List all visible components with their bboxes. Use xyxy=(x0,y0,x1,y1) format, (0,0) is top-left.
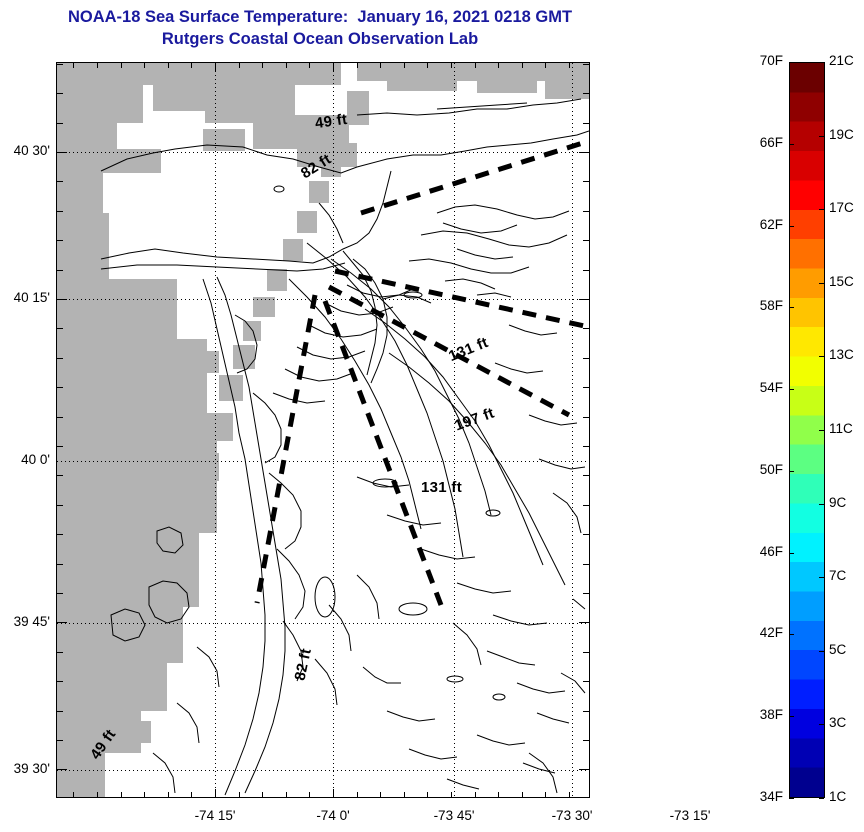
axis-label-longitude: -73 30' xyxy=(522,808,622,823)
axis-tick-minor-y xyxy=(583,681,590,682)
axis-tick-minor-y xyxy=(56,417,63,418)
colorbar-tick-f xyxy=(789,716,794,717)
gridline-horizontal xyxy=(57,299,589,300)
colorbar-label-fahrenheit: 66F xyxy=(741,135,783,150)
colorbar-label-fahrenheit: 58F xyxy=(741,298,783,313)
colorbar-label-fahrenheit: 50F xyxy=(741,462,783,477)
axis-label-latitude: 39 45' xyxy=(0,614,50,629)
axis-tick-minor-y xyxy=(583,270,590,271)
axis-tick-minor-y xyxy=(583,240,590,241)
gridline-vertical xyxy=(333,63,334,797)
colorbar-tick-f xyxy=(789,389,794,390)
colorbar-tick-c xyxy=(819,798,824,799)
colorbar-tick-c xyxy=(819,62,824,63)
axis-label-longitude: -73 45' xyxy=(404,808,504,823)
axis-tick-minor-y xyxy=(56,652,63,653)
axis-tick-minor-y xyxy=(56,93,63,94)
axis-tick-major-y xyxy=(579,622,590,623)
axis-tick-minor-y xyxy=(56,534,63,535)
axis-tick-major-y xyxy=(579,152,590,153)
axis-tick-major-y xyxy=(579,769,590,770)
axis-tick-minor-x xyxy=(427,792,428,798)
axis-tick-minor-x xyxy=(522,62,523,68)
colorbar-label-fahrenheit: 34F xyxy=(741,789,783,804)
colorbar-label-fahrenheit: 46F xyxy=(741,544,783,559)
axis-tick-minor-x xyxy=(121,62,122,68)
axis-tick-minor-x xyxy=(475,792,476,798)
axis-tick-minor-x xyxy=(309,62,310,68)
axis-tick-major-y xyxy=(56,769,67,770)
axis-tick-minor-y xyxy=(583,740,590,741)
colorbar-label-celsius: 19C xyxy=(829,127,854,142)
axis-tick-minor-x xyxy=(262,792,263,798)
axis-tick-minor-x xyxy=(357,792,358,798)
axis-tick-minor-x xyxy=(168,62,169,68)
colorbar-label-fahrenheit: 70F xyxy=(741,53,783,68)
axis-tick-minor-y xyxy=(583,505,590,506)
axis-tick-minor-x xyxy=(144,792,145,798)
axis-tick-major-x xyxy=(215,789,216,798)
colorbar-tick-f xyxy=(789,634,794,635)
axis-tick-major-y xyxy=(56,299,67,300)
colorbar-label-celsius: 3C xyxy=(829,715,846,730)
axis-tick-minor-y xyxy=(56,123,63,124)
axis-tick-minor-x xyxy=(286,792,287,798)
colorbar-label-celsius: 5C xyxy=(829,642,846,657)
axis-label-latitude: 40 15' xyxy=(0,290,50,305)
axis-tick-minor-x xyxy=(380,62,381,68)
depth-label-131ft-lower: 131 ft xyxy=(421,479,462,496)
axis-label-longitude: -74 0' xyxy=(283,808,383,823)
axis-tick-minor-x xyxy=(168,792,169,798)
colorbar-tick-c xyxy=(819,504,824,505)
colorbar-tick-c xyxy=(819,209,824,210)
colorbar-label-celsius: 17C xyxy=(829,200,854,215)
axis-tick-minor-y xyxy=(56,181,63,182)
axis-tick-minor-x xyxy=(545,792,546,798)
axis-label-longitude: -74 15' xyxy=(165,808,265,823)
axis-tick-minor-x xyxy=(380,792,381,798)
colorbar-tick-c xyxy=(819,283,824,284)
axis-tick-major-y xyxy=(56,622,67,623)
axis-tick-minor-y xyxy=(583,564,590,565)
page-subtitle: Rutgers Coastal Ocean Observation Lab xyxy=(0,28,640,50)
colorbar-label-celsius: 9C xyxy=(829,495,846,510)
axis-tick-minor-y xyxy=(583,93,590,94)
colorbar-label-fahrenheit: 54F xyxy=(741,380,783,395)
axis-tick-minor-y xyxy=(56,211,63,212)
axis-label-latitude: 39 30' xyxy=(0,761,50,776)
colorbar-tick-f xyxy=(789,471,794,472)
axis-tick-minor-y xyxy=(583,593,590,594)
colorbar-label-celsius: 13C xyxy=(829,347,854,362)
gridline-vertical xyxy=(454,63,455,797)
colorbar-tick-f xyxy=(789,62,794,63)
coastline-and-contours xyxy=(57,63,589,797)
gridline-horizontal xyxy=(57,623,589,624)
axis-tick-minor-x xyxy=(451,792,452,798)
colorbar-tick-c xyxy=(819,651,824,652)
axis-tick-minor-x xyxy=(498,792,499,798)
colorbar-tick-c xyxy=(819,577,824,578)
colorbar-label-celsius: 7C xyxy=(829,568,846,583)
colorbar-tick-f xyxy=(789,226,794,227)
axis-tick-minor-x xyxy=(73,62,74,68)
axis-tick-minor-x xyxy=(357,62,358,68)
colorbar-label-fahrenheit: 38F xyxy=(741,707,783,722)
colorbar-tick-f xyxy=(789,307,794,308)
axis-tick-minor-x xyxy=(498,62,499,68)
axis-tick-minor-x xyxy=(569,62,570,68)
axis-tick-minor-x xyxy=(191,792,192,798)
axis-tick-minor-x xyxy=(404,792,405,798)
axis-tick-minor-x xyxy=(121,792,122,798)
gridline-vertical xyxy=(572,63,573,797)
axis-tick-minor-x xyxy=(404,62,405,68)
axis-tick-minor-y xyxy=(56,475,63,476)
axis-tick-minor-y xyxy=(583,123,590,124)
axis-tick-minor-y xyxy=(583,211,590,212)
colorbar-label-fahrenheit: 62F xyxy=(741,217,783,232)
map-plot-area[interactable]: 49 ft 82 ft 131 ft 197 ft 131 ft 82 ft 4… xyxy=(56,62,590,798)
axis-tick-major-x xyxy=(215,62,216,71)
axis-tick-minor-x xyxy=(475,62,476,68)
axis-label-longitude: -73 15' xyxy=(640,808,740,823)
axis-tick-minor-x xyxy=(97,792,98,798)
axis-tick-minor-y xyxy=(56,681,63,682)
axis-tick-minor-y xyxy=(583,358,590,359)
colorbar-tick-c xyxy=(819,356,824,357)
gridline-horizontal xyxy=(57,461,589,462)
axis-tick-minor-y xyxy=(56,240,63,241)
axis-tick-minor-x xyxy=(286,62,287,68)
gridline-horizontal xyxy=(57,770,589,771)
axis-tick-major-x xyxy=(333,62,334,71)
colorbar-tick-f xyxy=(789,798,794,799)
axis-label-latitude: 40 0' xyxy=(0,452,50,467)
colorbar-label-celsius: 15C xyxy=(829,274,854,289)
axis-tick-minor-y xyxy=(56,593,63,594)
axis-tick-minor-x xyxy=(144,62,145,68)
colorbar-label-celsius: 1C xyxy=(829,789,846,804)
colorbar-label-fahrenheit: 42F xyxy=(741,625,783,640)
gridline-vertical xyxy=(215,63,216,797)
axis-tick-major-y xyxy=(579,299,590,300)
page-title: NOAA-18 Sea Surface Temperature: January… xyxy=(0,6,640,28)
axis-tick-minor-x xyxy=(97,62,98,68)
axis-tick-minor-y xyxy=(56,740,63,741)
colorbar-tick-c xyxy=(819,430,824,431)
axis-tick-minor-x xyxy=(451,62,452,68)
axis-tick-minor-x xyxy=(239,792,240,798)
axis-tick-minor-y xyxy=(56,328,63,329)
map-canvas: 49 ft 82 ft 131 ft 197 ft 131 ft 82 ft 4… xyxy=(57,63,589,797)
axis-tick-minor-y xyxy=(583,64,590,65)
axis-label-latitude: 40 30' xyxy=(0,143,50,158)
axis-tick-minor-x xyxy=(262,62,263,68)
axis-tick-minor-x xyxy=(545,62,546,68)
axis-tick-minor-y xyxy=(56,711,63,712)
axis-tick-major-y xyxy=(56,152,67,153)
chart-title-block: NOAA-18 Sea Surface Temperature: January… xyxy=(0,6,640,50)
axis-tick-minor-y xyxy=(56,64,63,65)
colorbar-tick-c xyxy=(819,724,824,725)
colorbar-tick-c xyxy=(819,136,824,137)
axis-tick-minor-y xyxy=(583,534,590,535)
axis-tick-minor-y xyxy=(56,270,63,271)
axis-tick-minor-x xyxy=(239,62,240,68)
colorbar-tick-f xyxy=(789,553,794,554)
axis-tick-minor-y xyxy=(583,328,590,329)
axis-tick-minor-y xyxy=(583,387,590,388)
axis-tick-minor-y xyxy=(56,387,63,388)
colorbar-label-celsius: 11C xyxy=(829,421,853,436)
axis-tick-minor-y xyxy=(583,446,590,447)
axis-tick-minor-x xyxy=(569,792,570,798)
axis-tick-minor-y xyxy=(583,181,590,182)
axis-tick-minor-x xyxy=(427,62,428,68)
axis-tick-minor-y xyxy=(583,652,590,653)
axis-tick-minor-y xyxy=(56,358,63,359)
colorbar-label-celsius: 21C xyxy=(829,53,854,68)
colorbar-tick-f xyxy=(789,144,794,145)
axis-tick-minor-x xyxy=(309,792,310,798)
axis-tick-minor-y xyxy=(56,446,63,447)
axis-tick-minor-y xyxy=(583,475,590,476)
axis-tick-minor-y xyxy=(56,564,63,565)
axis-tick-minor-x xyxy=(191,62,192,68)
axis-tick-minor-x xyxy=(522,792,523,798)
axis-tick-minor-x xyxy=(73,792,74,798)
axis-tick-minor-y xyxy=(56,505,63,506)
axis-tick-minor-y xyxy=(583,417,590,418)
axis-tick-major-x xyxy=(333,789,334,798)
axis-tick-minor-y xyxy=(583,711,590,712)
